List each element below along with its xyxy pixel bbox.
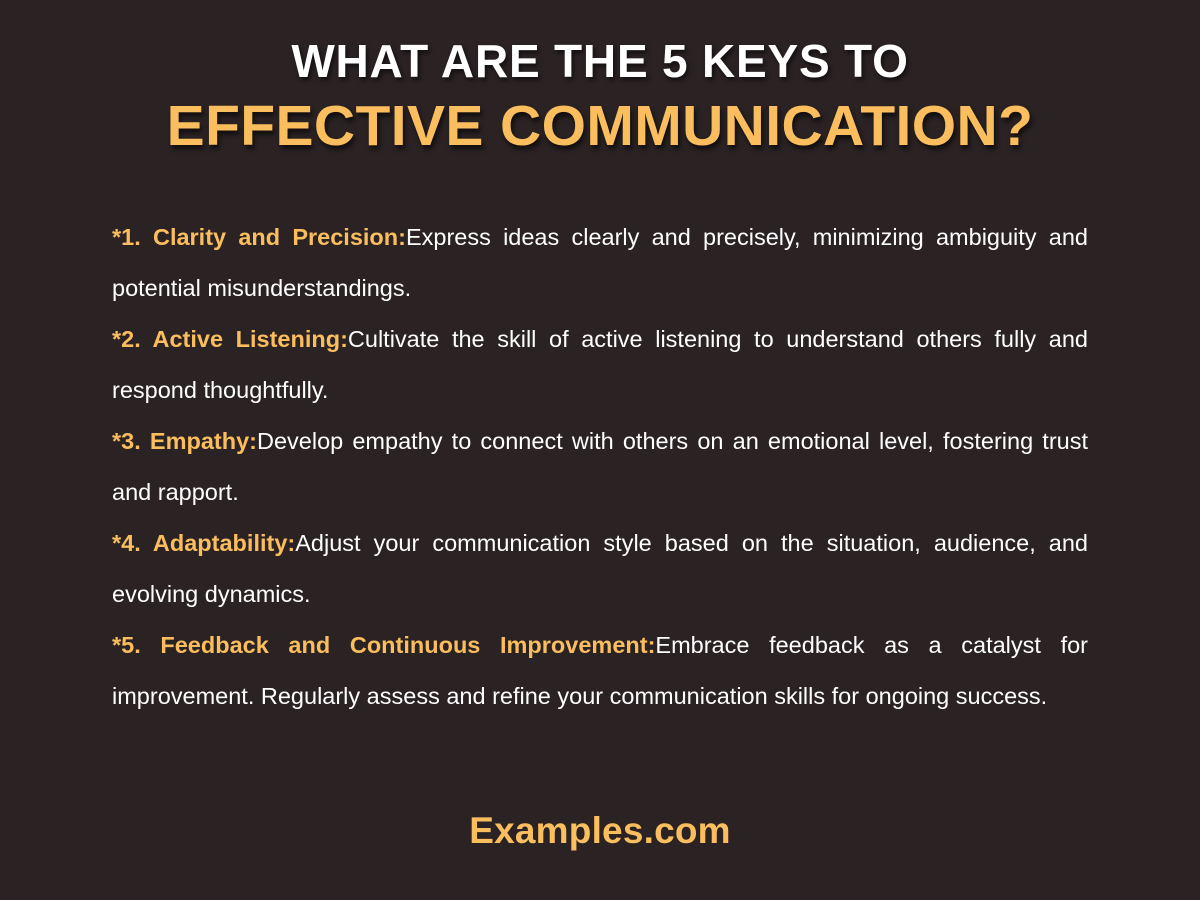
page-title: WHAT ARE THE 5 KEYS TO EFFECTIVE COMMUNI… <box>0 0 1200 162</box>
keys-list: *1. Clarity and Precision:Express ideas … <box>112 212 1088 722</box>
key-text: Develop empathy to connect with others o… <box>112 428 1088 505</box>
key-label: *5. Feedback and Continuous Improvement: <box>112 632 655 658</box>
infographic-poster: WHAT ARE THE 5 KEYS TO EFFECTIVE COMMUNI… <box>0 0 1200 900</box>
list-item: *3. Empathy:Develop empathy to connect w… <box>112 416 1088 518</box>
list-item: *2. Active Listening:Cultivate the skill… <box>112 314 1088 416</box>
list-item: *1. Clarity and Precision:Express ideas … <box>112 212 1088 314</box>
key-label: *3. Empathy: <box>112 428 257 454</box>
page-title-line-1: WHAT ARE THE 5 KEYS TO <box>0 34 1200 88</box>
key-label: *4. Adaptability: <box>112 530 295 556</box>
brand-watermark: Examples.com <box>0 810 1200 852</box>
key-label: *1. Clarity and Precision: <box>112 224 406 250</box>
list-item: *4. Adaptability:Adjust your communicati… <box>112 518 1088 620</box>
key-label: *2. Active Listening: <box>112 326 348 352</box>
list-item: *5. Feedback and Continuous Improvement:… <box>112 620 1088 722</box>
page-title-line-2: EFFECTIVE COMMUNICATION? <box>0 92 1200 162</box>
